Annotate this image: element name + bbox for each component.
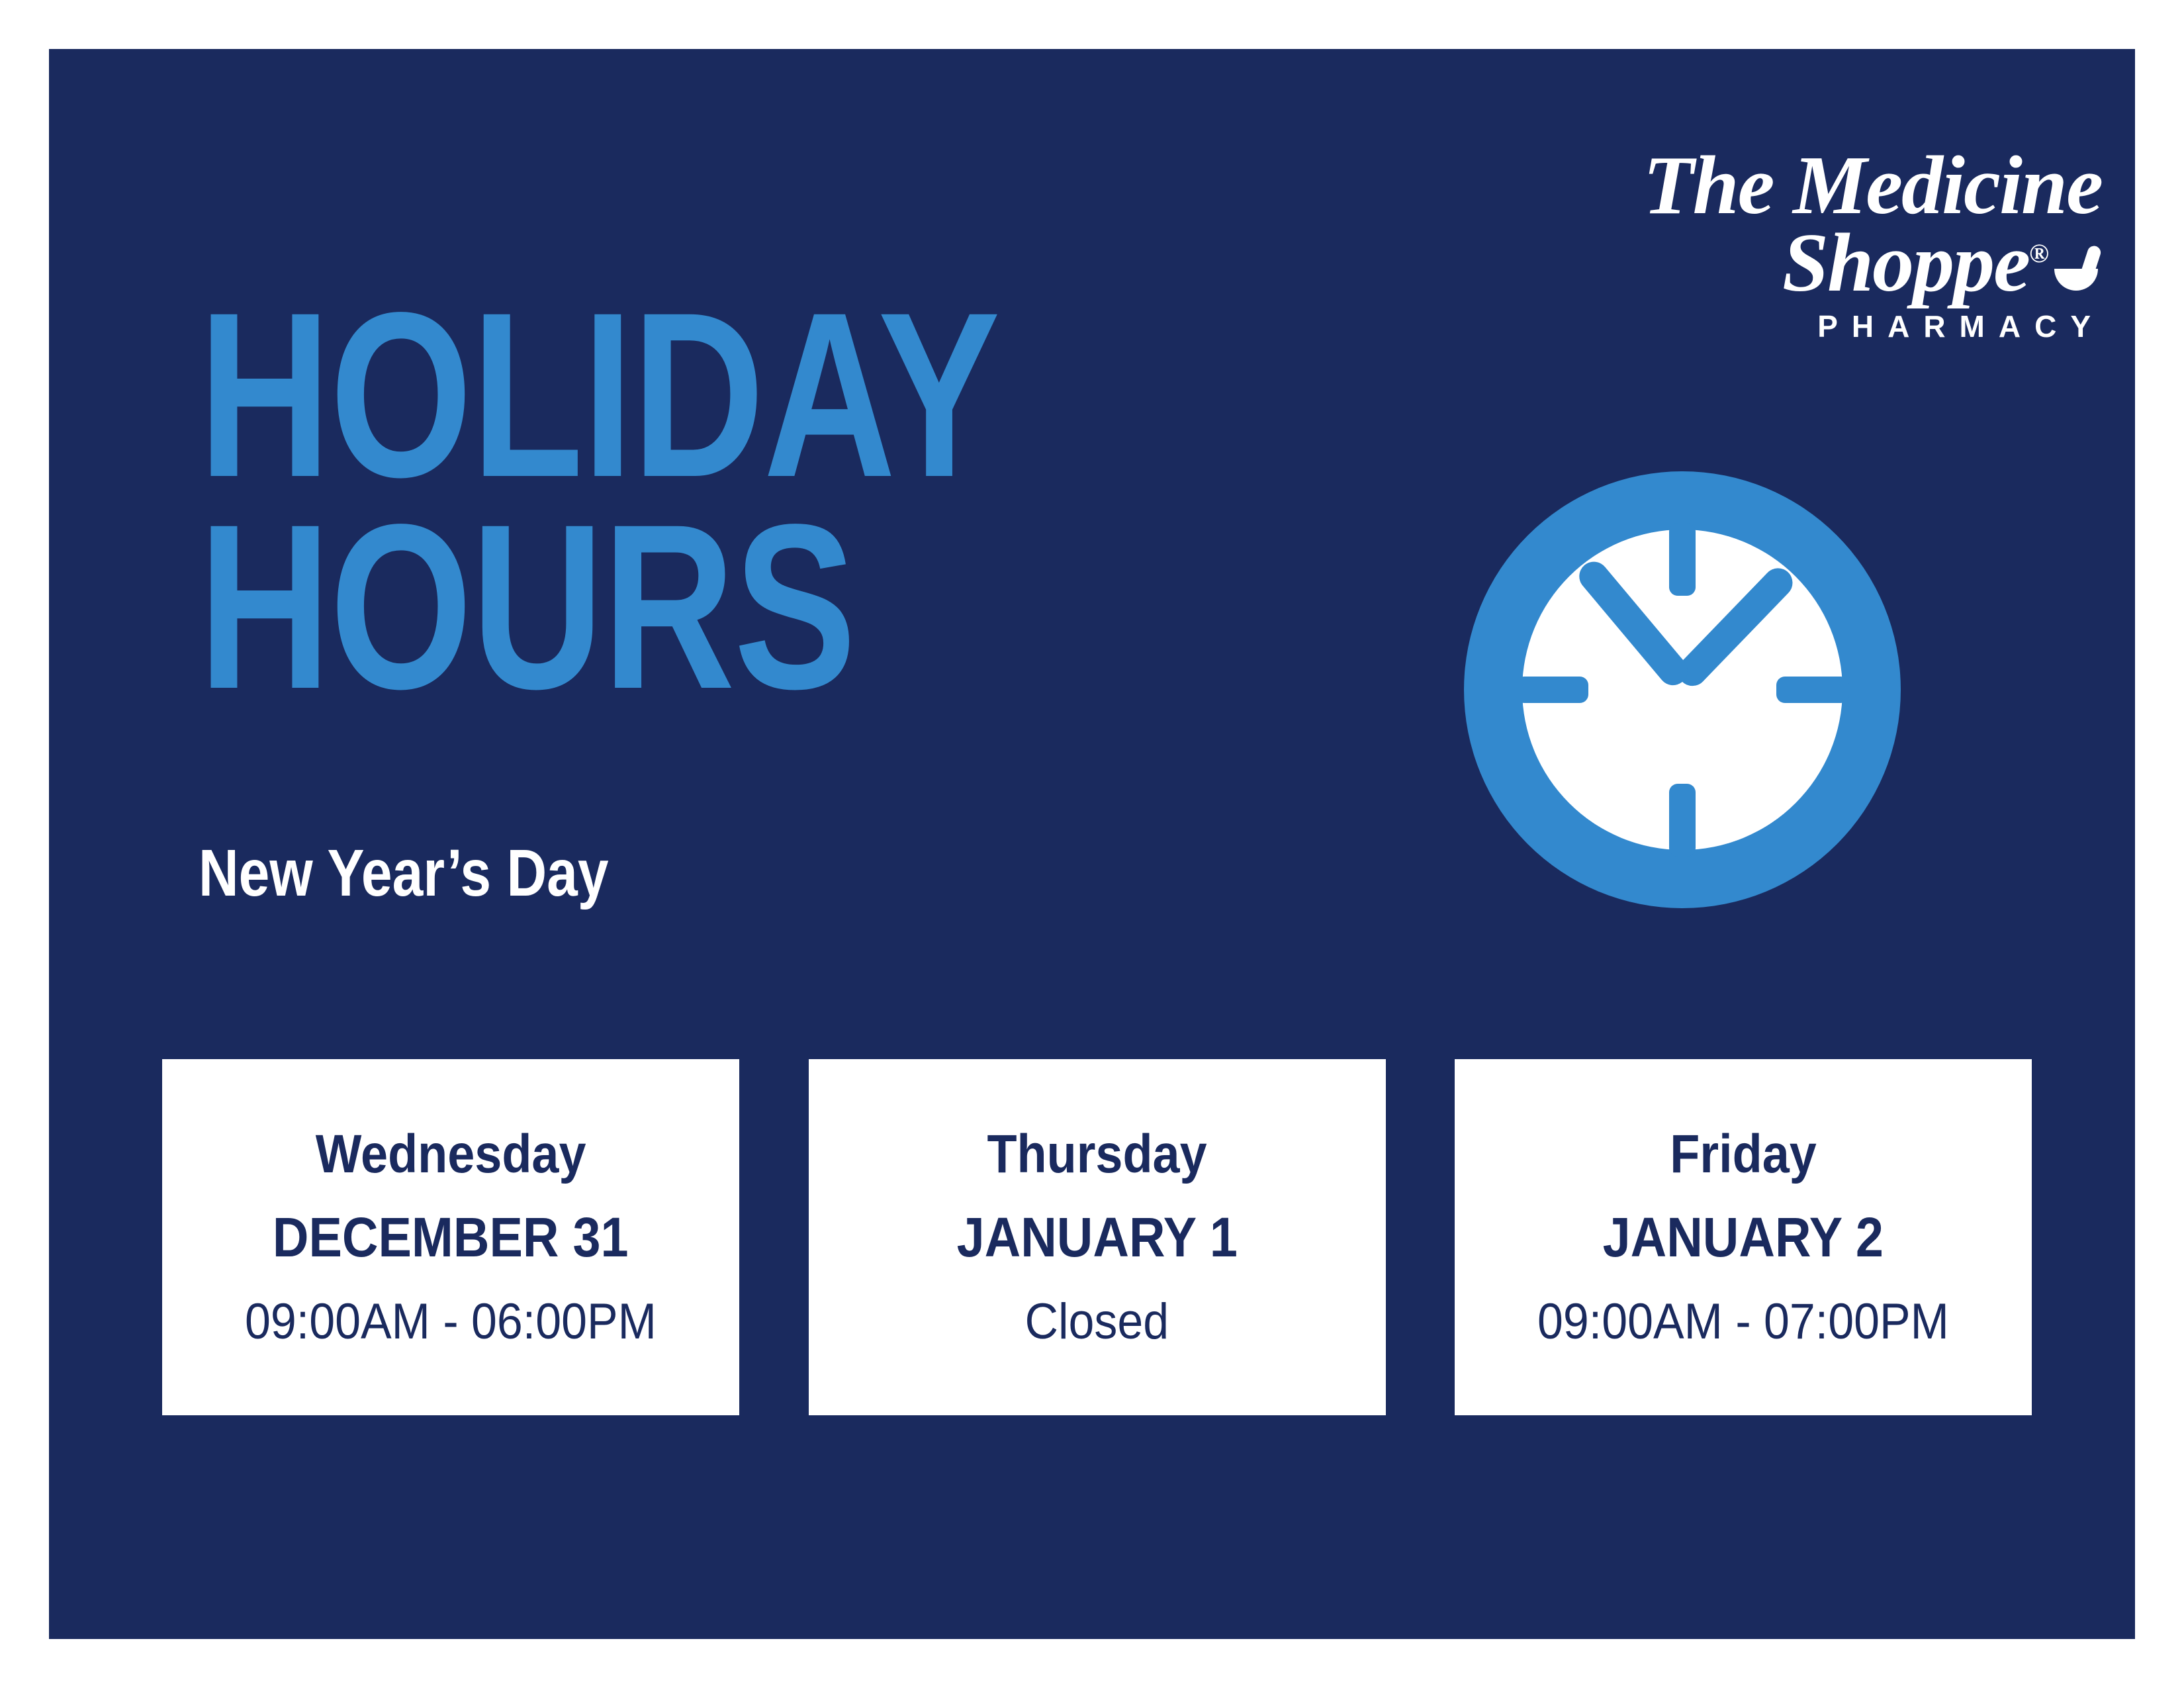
- card-date-label: JANUARY 1: [956, 1209, 1237, 1265]
- hours-card: Thursday JANUARY 1 Closed: [809, 1059, 1386, 1415]
- brand-script-shoppe: Shoppe: [1782, 217, 2029, 309]
- holiday-name-subtitle: New Year’s Day: [199, 835, 609, 912]
- page-title: HOLIDAY HOURS: [199, 290, 1522, 713]
- page-title-line-2: HOURS: [199, 502, 1231, 714]
- clock-tick-3: [1776, 677, 1849, 703]
- holiday-hours-poster: The Medicine Shoppe® PHARMACY HOLIDAY HO…: [0, 0, 2184, 1688]
- registered-mark-icon: ®: [2029, 238, 2049, 268]
- brand-logo: The Medicine Shoppe® PHARMACY: [1643, 147, 2106, 352]
- brand-wordmark: PHARMACY: [1643, 308, 2106, 344]
- card-hours-label: Closed: [1025, 1297, 1169, 1347]
- card-hours-label: 09:00AM - 06:00PM: [245, 1297, 657, 1347]
- hours-card: Friday JANUARY 2 09:00AM - 07:00PM: [1455, 1059, 2032, 1415]
- card-date-label: JANUARY 2: [1603, 1209, 1884, 1265]
- hours-card-list: Wednesday DECEMBER 31 09:00AM - 06:00PM …: [162, 1059, 2032, 1415]
- clock-icon: [1464, 471, 1901, 908]
- hours-card: Wednesday DECEMBER 31 09:00AM - 06:00PM: [162, 1059, 739, 1415]
- card-day-label: Wednesday: [316, 1127, 586, 1182]
- brand-script-line2: Shoppe®: [1643, 224, 2106, 302]
- mortar-and-pestle-icon: [2050, 243, 2102, 295]
- clock-tick-12: [1669, 523, 1696, 596]
- card-date-label: DECEMBER 31: [273, 1209, 629, 1265]
- card-hours-label: 09:00AM - 07:00PM: [1537, 1297, 1949, 1347]
- clock-tick-9: [1516, 677, 1588, 703]
- brand-script-line1: The Medicine: [1643, 147, 2106, 224]
- card-day-label: Friday: [1670, 1127, 1816, 1182]
- clock-tick-6: [1669, 784, 1696, 857]
- card-day-label: Thursday: [987, 1127, 1206, 1182]
- page-title-line-1: HOLIDAY: [199, 290, 1231, 502]
